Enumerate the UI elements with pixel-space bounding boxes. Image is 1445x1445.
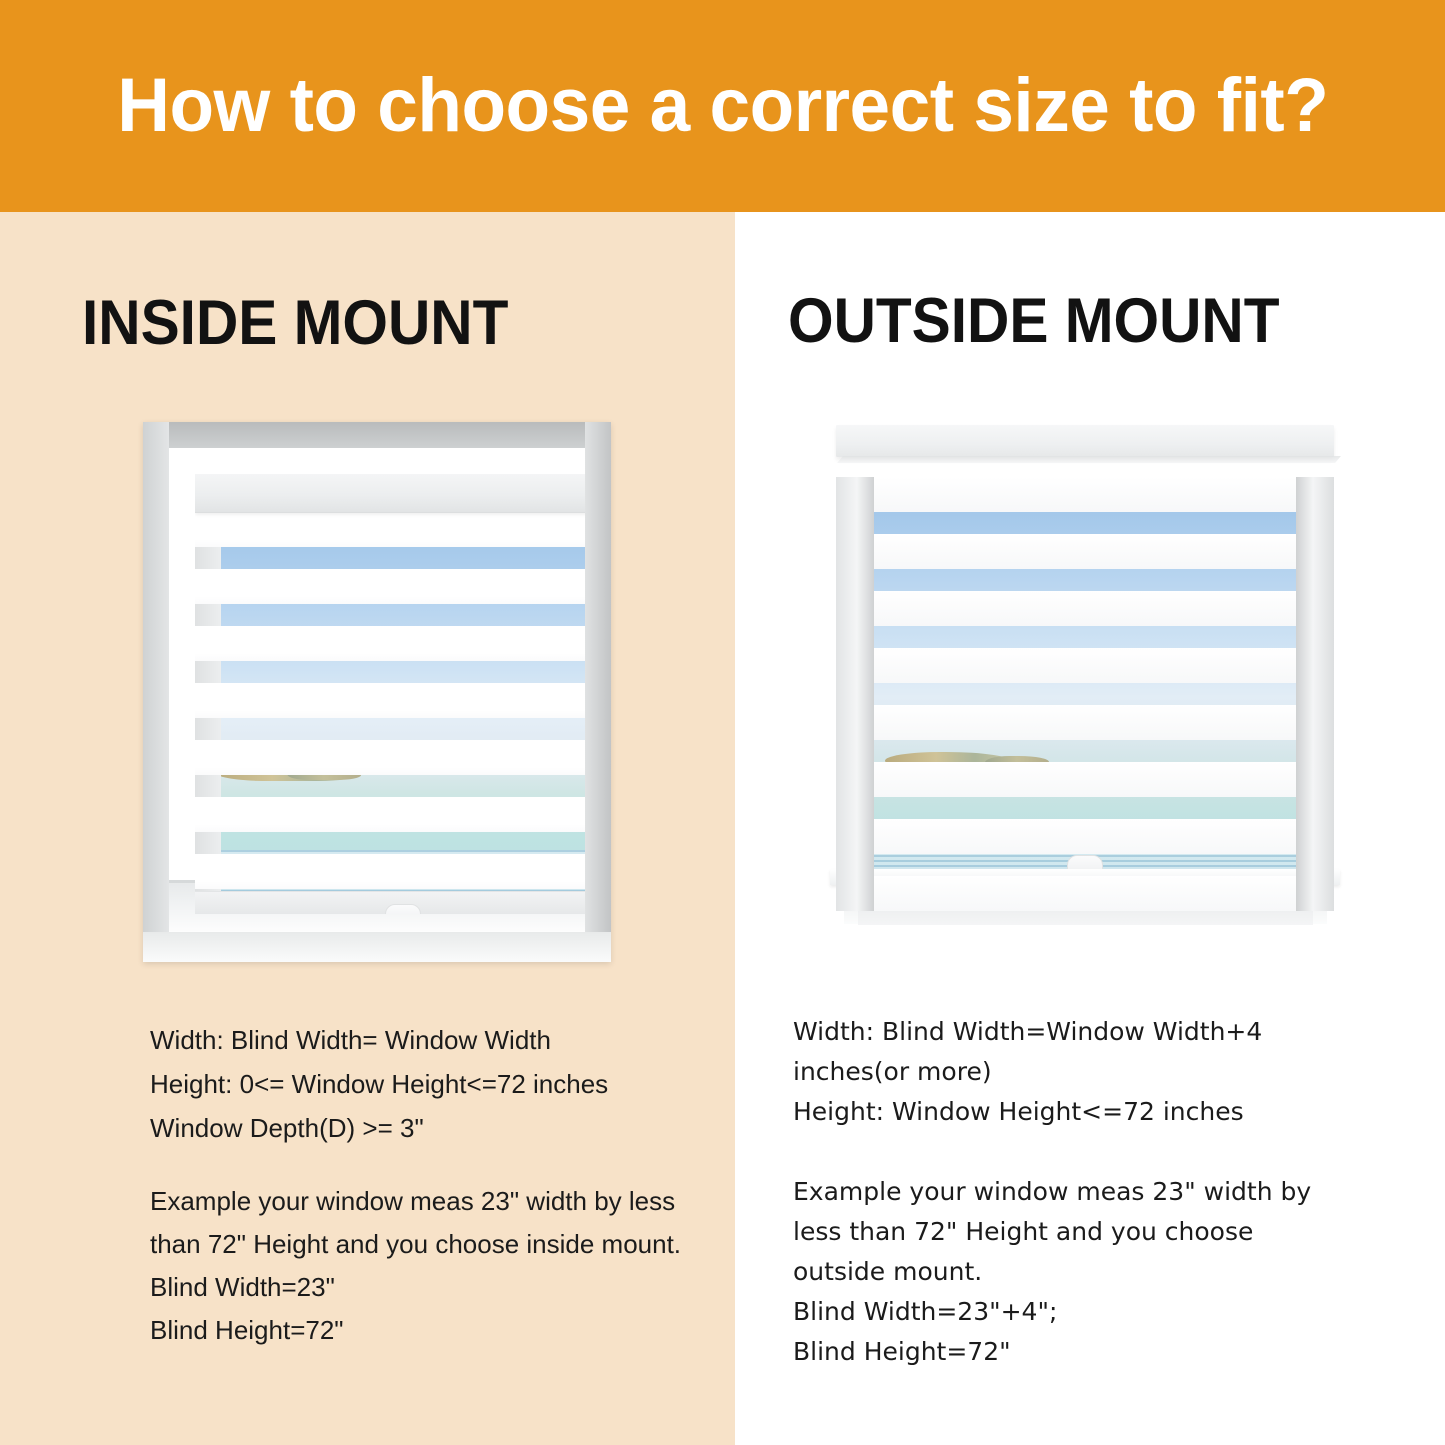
zebra-slat-end-cap-left: [836, 591, 874, 626]
zebra-opaque-slat: [874, 762, 1296, 797]
inside-mount-example: Example your window meas 23" width by le…: [150, 1180, 695, 1352]
zebra-open-gap-outside: [836, 797, 1334, 819]
zebra-open-gap-outside: [836, 683, 1334, 705]
outside-mount-window-illustration: [830, 417, 1340, 962]
zebra-open-gap-outside: [836, 512, 1334, 534]
zebra-blind-inside: [195, 474, 585, 914]
zebra-slat-end-cap-left: [836, 705, 874, 740]
zebra-slat-end-cap-right: [1296, 797, 1334, 819]
zebra-slat-end-cap-right: [1296, 740, 1334, 762]
zebra-opaque-slat: [874, 819, 1296, 854]
outside-mount-specs: Width: Blind Width=Window Width+4 inches…: [793, 1012, 1338, 1132]
outside-mount-heading: OUTSIDE MOUNT: [788, 290, 1280, 353]
zebra-slat-end-cap-left: [836, 854, 874, 876]
page-title: How to choose a correct size to fit?: [117, 68, 1328, 144]
zebra-slat-outside: [836, 705, 1334, 740]
zebra-slat-outside: [836, 477, 1334, 512]
zebra-opaque-slat: [874, 591, 1296, 626]
blind-bottom-rail: [195, 891, 585, 914]
zebra-slat-end-cap-right: [1296, 876, 1334, 911]
zebra-slat-end-cap-left: [836, 648, 874, 683]
outdoor-scene: [195, 512, 585, 914]
outside-mount-example: Example your window meas 23" width by le…: [793, 1172, 1353, 1372]
zebra-slat-end-cap-left: [836, 477, 874, 512]
zebra-opaque-slat: [874, 477, 1296, 512]
zebra-slat-end-cap-right: [1296, 569, 1334, 591]
zebra-slat-end-cap-right: [1296, 512, 1334, 534]
inside-mount-window-illustration: [143, 422, 611, 962]
zebra-slat-end-cap-left: [836, 534, 874, 569]
zebra-slat-end-cap-left: [836, 762, 874, 797]
zebra-slat-end-cap-left: [836, 683, 874, 705]
zebra-slat-end-cap-right: [1296, 534, 1334, 569]
zebra-open-gap-outside: [836, 626, 1334, 648]
zebra-open-gap-outside: [836, 569, 1334, 591]
zebra-slat-end-cap-right: [1296, 626, 1334, 648]
zebra-slat-outside: [836, 876, 1334, 911]
zebra-slat-end-cap-right: [1296, 591, 1334, 626]
panel-outside-mount: OUTSIDE MOUNT Width: Blind Width=Window …: [735, 212, 1445, 1445]
zebra-slat-outside: [836, 534, 1334, 569]
zebra-slat-outside: [836, 648, 1334, 683]
zebra-open-gap-outside: [836, 740, 1334, 762]
window-opening: [169, 448, 585, 932]
zebra-open-gap-outside: [836, 854, 1334, 876]
zebra-slat-outside: [836, 591, 1334, 626]
blind-headrail: [195, 474, 585, 513]
zebra-opaque-slat: [874, 705, 1296, 740]
zebra-opaque-slat: [874, 534, 1296, 569]
inside-mount-heading: INSIDE MOUNT: [82, 292, 508, 355]
inside-mount-specs: Width: Blind Width= Window Width Height:…: [150, 1018, 680, 1150]
window-frame-top: [143, 422, 611, 448]
zebra-slat-end-cap-right: [1296, 477, 1334, 512]
zebra-opaque-slat: [874, 648, 1296, 683]
zebra-slat-end-cap-right: [1296, 683, 1334, 705]
header-banner: How to choose a correct size to fit?: [0, 0, 1445, 212]
zebra-slat-end-cap-left: [836, 512, 874, 534]
zebra-opaque-slat: [874, 876, 1296, 911]
zebra-slat-end-cap-left: [836, 569, 874, 591]
zebra-slat-end-cap-left: [836, 797, 874, 819]
zebra-slat-end-cap-left: [836, 819, 874, 854]
zebra-slat-end-cap-right: [1296, 705, 1334, 740]
panels-container: INSIDE MOUNT: [0, 212, 1445, 1445]
zebra-slat-end-cap-right: [1296, 819, 1334, 854]
zebra-slat-end-cap-right: [1296, 762, 1334, 797]
island-shape-secondary-icon: [287, 767, 362, 780]
panel-inside-mount: INSIDE MOUNT: [0, 212, 735, 1445]
zebra-slat-outside: [836, 819, 1334, 854]
window-frame-right: [585, 422, 611, 962]
zebra-slat-end-cap-left: [836, 740, 874, 762]
window-frame-bottom: [143, 932, 611, 962]
zebra-slat-end-cap-right: [1296, 648, 1334, 683]
blind-headrail: [836, 425, 1334, 457]
window-frame-left: [143, 422, 169, 962]
blind-pull-tab[interactable]: [385, 904, 421, 914]
zebra-slat-end-cap-right: [1296, 854, 1334, 876]
zebra-slat-end-cap-left: [836, 876, 874, 911]
zebra-slat-outside: [836, 762, 1334, 797]
zebra-slat-end-cap-left: [836, 626, 874, 648]
